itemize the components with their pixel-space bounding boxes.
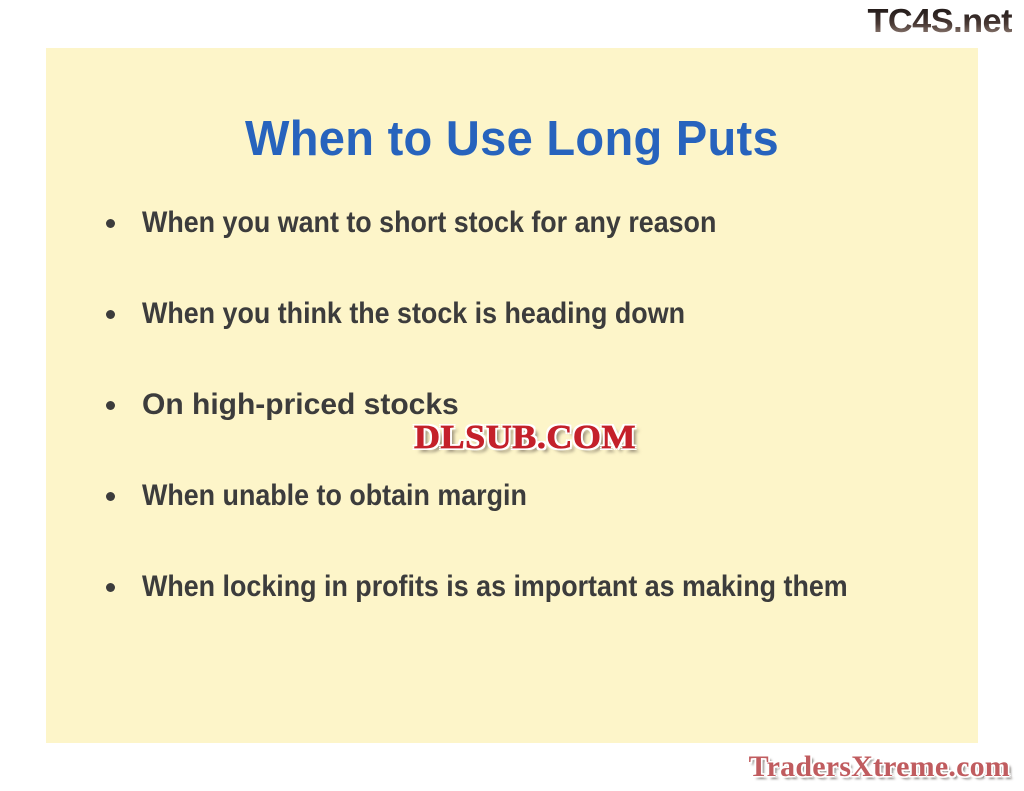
list-item: When unable to obtain margin — [100, 476, 950, 516]
page-title: When to Use Long Puts — [65, 111, 960, 167]
list-item-label: When you want to short stock for any rea… — [142, 203, 950, 243]
bullet-dot-icon — [106, 219, 115, 228]
tc4s-logo: TC4S.net — [867, 2, 1012, 40]
bullet-dot-icon — [106, 583, 115, 592]
bullet-dot-icon — [106, 492, 115, 501]
list-item: When you want to short stock for any rea… — [100, 203, 950, 243]
list-item: When locking in profits is as important … — [100, 567, 950, 607]
dlsub-watermark: DLSUB.COM — [414, 419, 636, 457]
list-item-label: When locking in profits is as important … — [142, 567, 950, 607]
bullet-dot-icon — [106, 310, 115, 319]
list-item-label: When unable to obtain margin — [142, 476, 950, 516]
bullet-list: When you want to short stock for any rea… — [100, 203, 950, 607]
list-item-label: When you think the stock is heading down — [142, 294, 950, 334]
bullet-dot-icon — [106, 401, 115, 410]
tradersxtreme-logo: TradersXtreme.com — [749, 749, 1010, 785]
slide-panel: When to Use Long Puts When you want to s… — [46, 48, 978, 743]
list-item: When you think the stock is heading down — [100, 294, 950, 334]
